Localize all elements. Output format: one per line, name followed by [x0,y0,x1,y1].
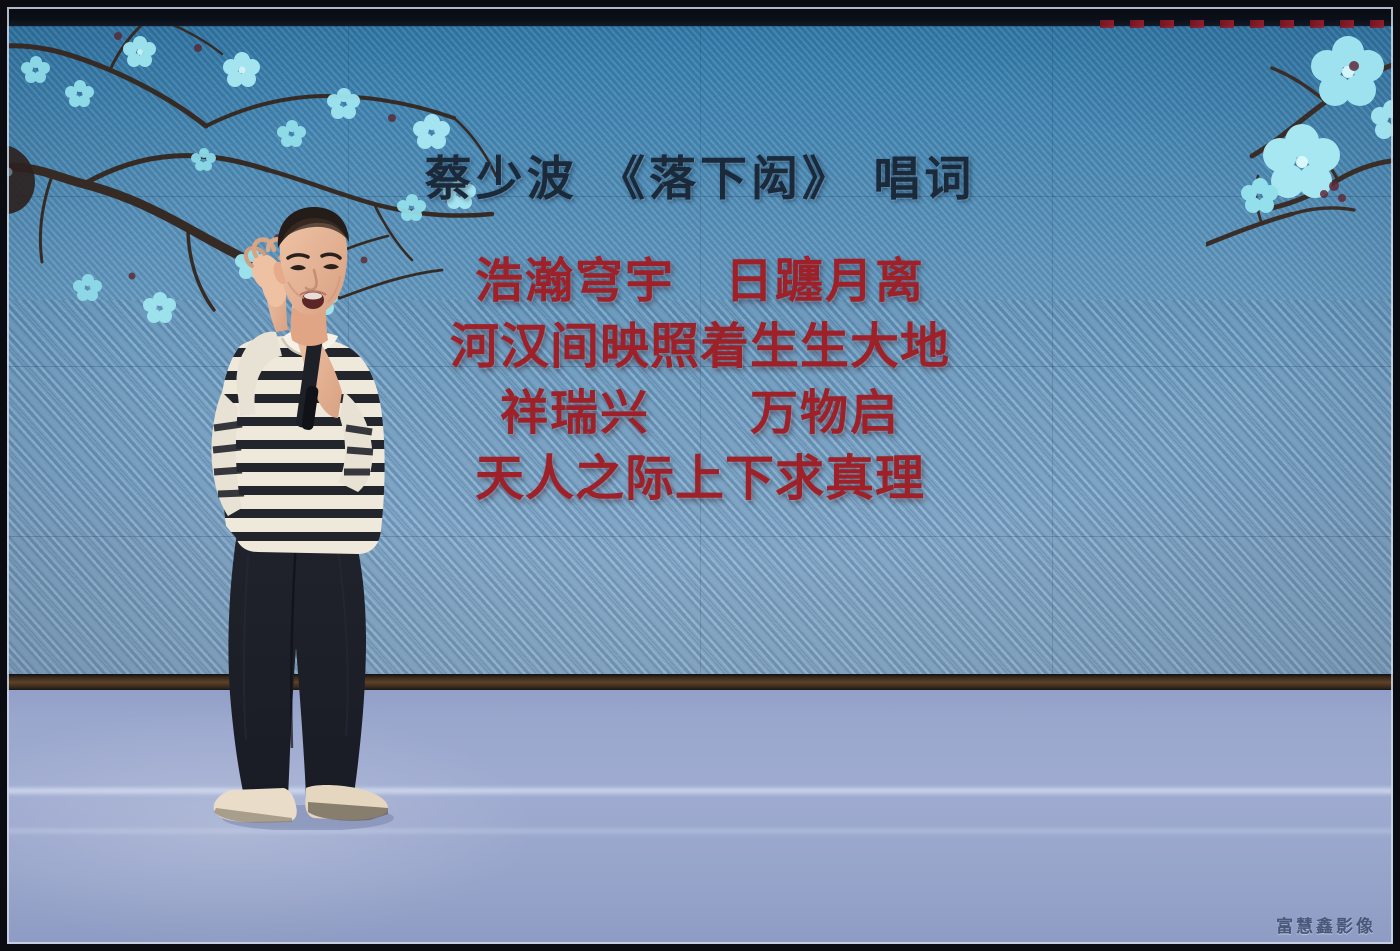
performer-pants [228,526,366,798]
photographer-watermark: 富慧鑫影像 [1276,912,1376,937]
photograph: 蔡少波 《落下闳》 唱词 浩瀚穹宇 日躔月离 河汉间映照着生生大地 祥瑞兴 万物… [0,0,1400,951]
screen-top-red-strip [1100,20,1400,28]
singer-with-microphone [196,196,426,830]
